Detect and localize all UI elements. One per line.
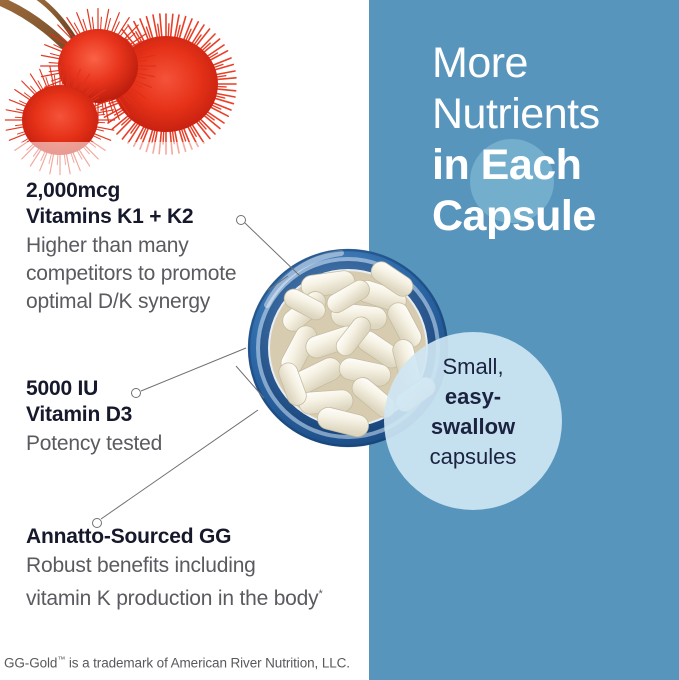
callout-vitamin-d3-heading: 5000 IU Vitamin D3 <box>26 376 246 428</box>
callout-vitamins-k-heading-line-2: Vitamins K1 + K2 <box>26 205 193 228</box>
headline-line-1: More <box>432 38 672 89</box>
callout-annatto-gg-heading: Annatto-Sourced GG <box>26 524 326 550</box>
callout-annatto-gg-body-text: Robust benefits including vitamin K prod… <box>26 554 318 610</box>
footer-text: is a trademark of American River Nutriti… <box>65 656 350 671</box>
callout-vitamin-d3: 5000 IU Vitamin D3 Potency tested <box>26 376 246 458</box>
swallow-line-4: capsules <box>384 442 562 472</box>
callout-vitamins-k-body: Higher than many competitors to promote … <box>26 232 261 316</box>
callout-vitamin-d3-heading-line-1: 5000 IU <box>26 377 98 400</box>
headline-line-3: in Each <box>432 140 672 191</box>
callout-vitamins-k-heading-line-1: 2,000mcg <box>26 179 120 202</box>
callout-vitamins-k-heading: 2,000mcg Vitamins K1 + K2 <box>26 178 261 230</box>
swallow-line-3: swallow <box>384 412 562 442</box>
footer-brand: GG-Gold <box>4 656 57 671</box>
callout-vitamin-d3-body: Potency tested <box>26 430 246 458</box>
swallow-line-2: easy- <box>384 382 562 412</box>
swallow-line-1: Small, <box>384 352 562 382</box>
easy-swallow-text: Small, easy- swallow capsules <box>384 352 562 472</box>
callout-annatto-gg-heading-line-1: Annatto-Sourced GG <box>26 525 231 548</box>
callout-vitamin-d3-heading-line-2: Vitamin D3 <box>26 403 132 426</box>
headline-line-4: Capsule <box>432 191 672 242</box>
headline: More Nutrients in Each Capsule <box>432 38 672 242</box>
callout-annatto-gg: Annatto-Sourced GG Robust benefits inclu… <box>26 524 326 613</box>
trademark-footer: GG-Gold™ is a trademark of American Rive… <box>4 655 350 671</box>
headline-line-2: Nutrients <box>432 89 672 140</box>
callout-annatto-gg-footnote-marker: * <box>318 588 322 600</box>
product-infographic: More Nutrients in Each Capsule <box>0 0 679 680</box>
callout-vitamins-k: 2,000mcg Vitamins K1 + K2 Higher than ma… <box>26 178 261 316</box>
callout-annatto-gg-body: Robust benefits including vitamin K prod… <box>26 552 326 613</box>
